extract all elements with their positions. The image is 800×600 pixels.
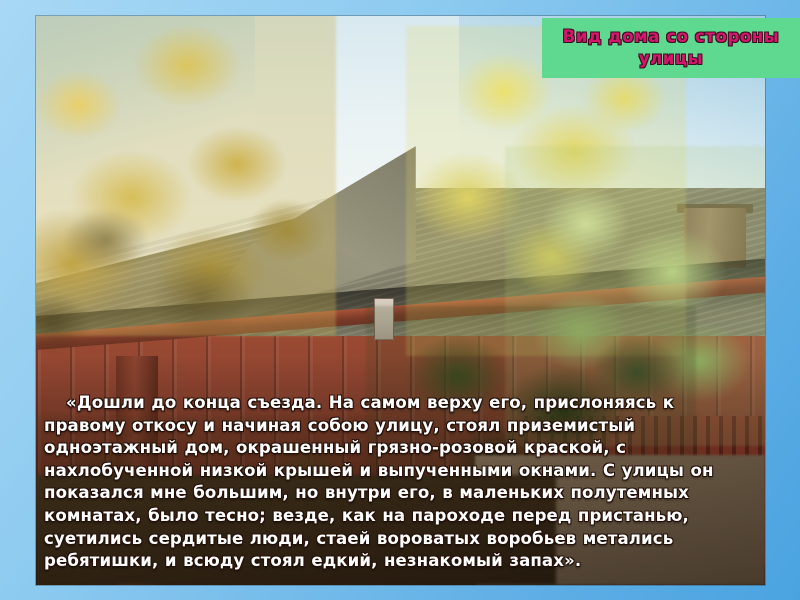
title-banner: Вид дома со стороны улицы: [542, 18, 800, 78]
slide: Вид дома со стороны улицы «Дошли до конц…: [0, 0, 800, 600]
slide-title: Вид дома со стороны улицы: [548, 26, 794, 71]
caption-paragraph: «Дошли до конца съезда. На самом верху е…: [44, 392, 760, 573]
